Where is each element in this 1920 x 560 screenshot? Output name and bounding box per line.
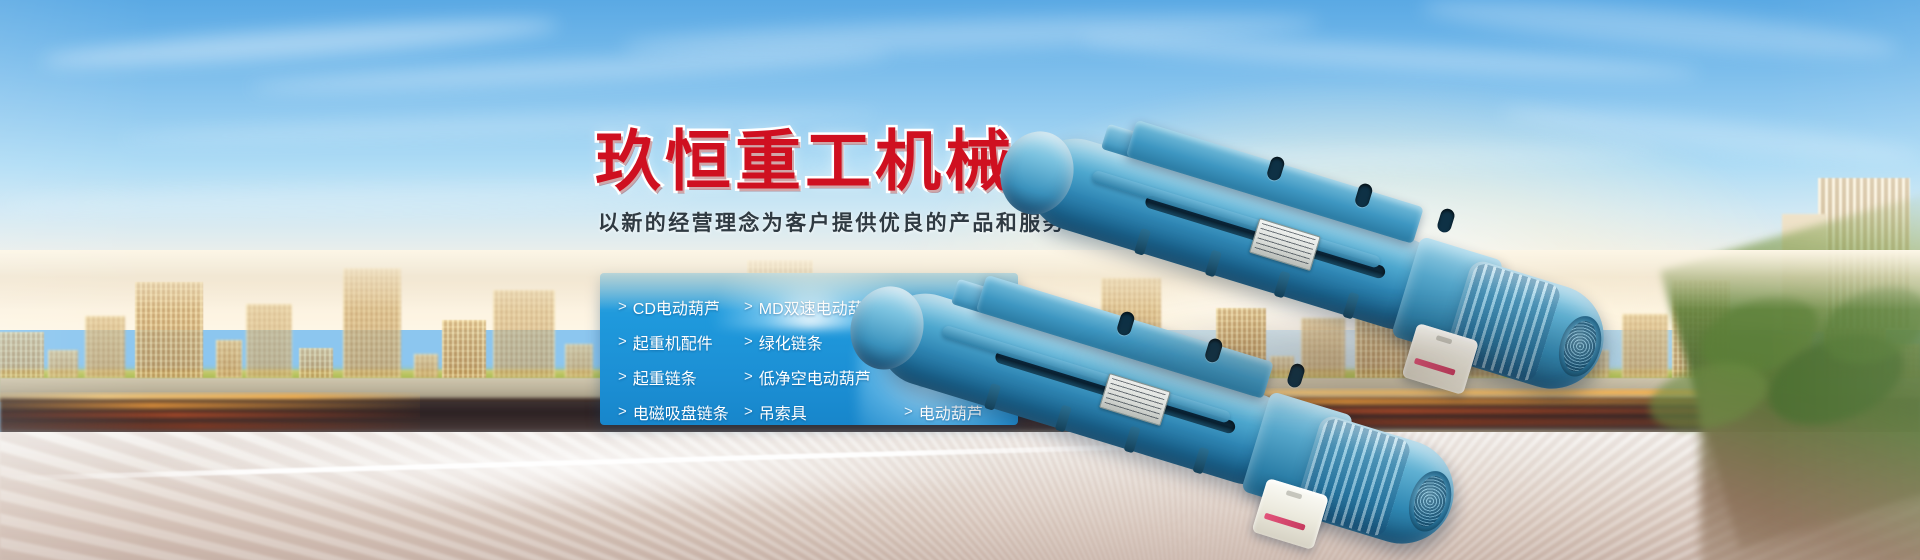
chevron-right-icon: >: [618, 368, 627, 385]
product-link[interactable]: >起重机配件: [618, 330, 744, 354]
chevron-right-icon: >: [618, 333, 627, 350]
chevron-right-icon: >: [744, 368, 753, 385]
product-links-row: >电磁吸盘链条>吊索具>电动葫芦: [618, 394, 1018, 425]
skyline-building: [85, 316, 125, 378]
product-link-label: 绿化链条: [759, 330, 823, 354]
banner-headline: 玖恒重工机械: [595, 128, 1015, 194]
product-link[interactable]: >电磁吸盘链条: [618, 400, 744, 424]
chevron-right-icon: >: [904, 403, 913, 420]
skyline-building: [0, 332, 44, 378]
skyline-building: [48, 350, 78, 378]
product-photo-group: [1020, 50, 1920, 520]
skyline-building: [414, 354, 438, 378]
product-link[interactable]: >起重链条: [618, 365, 744, 389]
product-link[interactable]: >吊索具: [744, 400, 904, 424]
skyline-building: [246, 304, 292, 378]
product-link-label: 吊索具: [759, 400, 807, 424]
product-link-label: 低净空电动葫芦: [759, 365, 871, 389]
chevron-right-icon: >: [744, 403, 753, 420]
hero-banner: 玖恒重工机械 以新的经营理念为客户提供优良的产品和服务 >CD电动葫芦>MD双速…: [0, 0, 1920, 560]
product-link-label: 电动葫芦: [919, 400, 983, 424]
banner-subheadline: 以新的经营理念为客户提供优良的产品和服务: [598, 207, 1066, 237]
skyline-building: [565, 344, 593, 378]
hoist-lifting-lug: [1266, 155, 1286, 182]
light-streaks-left: [0, 392, 420, 432]
skyline-building: [216, 340, 242, 378]
product-shadow: [1060, 300, 1680, 420]
product-link-label: 电磁吸盘链条: [633, 400, 729, 424]
product-link[interactable]: >电动葫芦: [904, 400, 983, 424]
product-link-label: 起重链条: [633, 365, 697, 389]
product-link-label: 起重机配件: [633, 330, 713, 354]
chevron-right-icon: >: [744, 333, 753, 350]
hoist-lifting-lug: [1436, 207, 1456, 234]
hoist-lifting-lug: [1354, 182, 1374, 209]
chevron-right-icon: >: [618, 403, 627, 420]
skyline-building: [299, 348, 333, 378]
skyline-building: [442, 320, 486, 378]
